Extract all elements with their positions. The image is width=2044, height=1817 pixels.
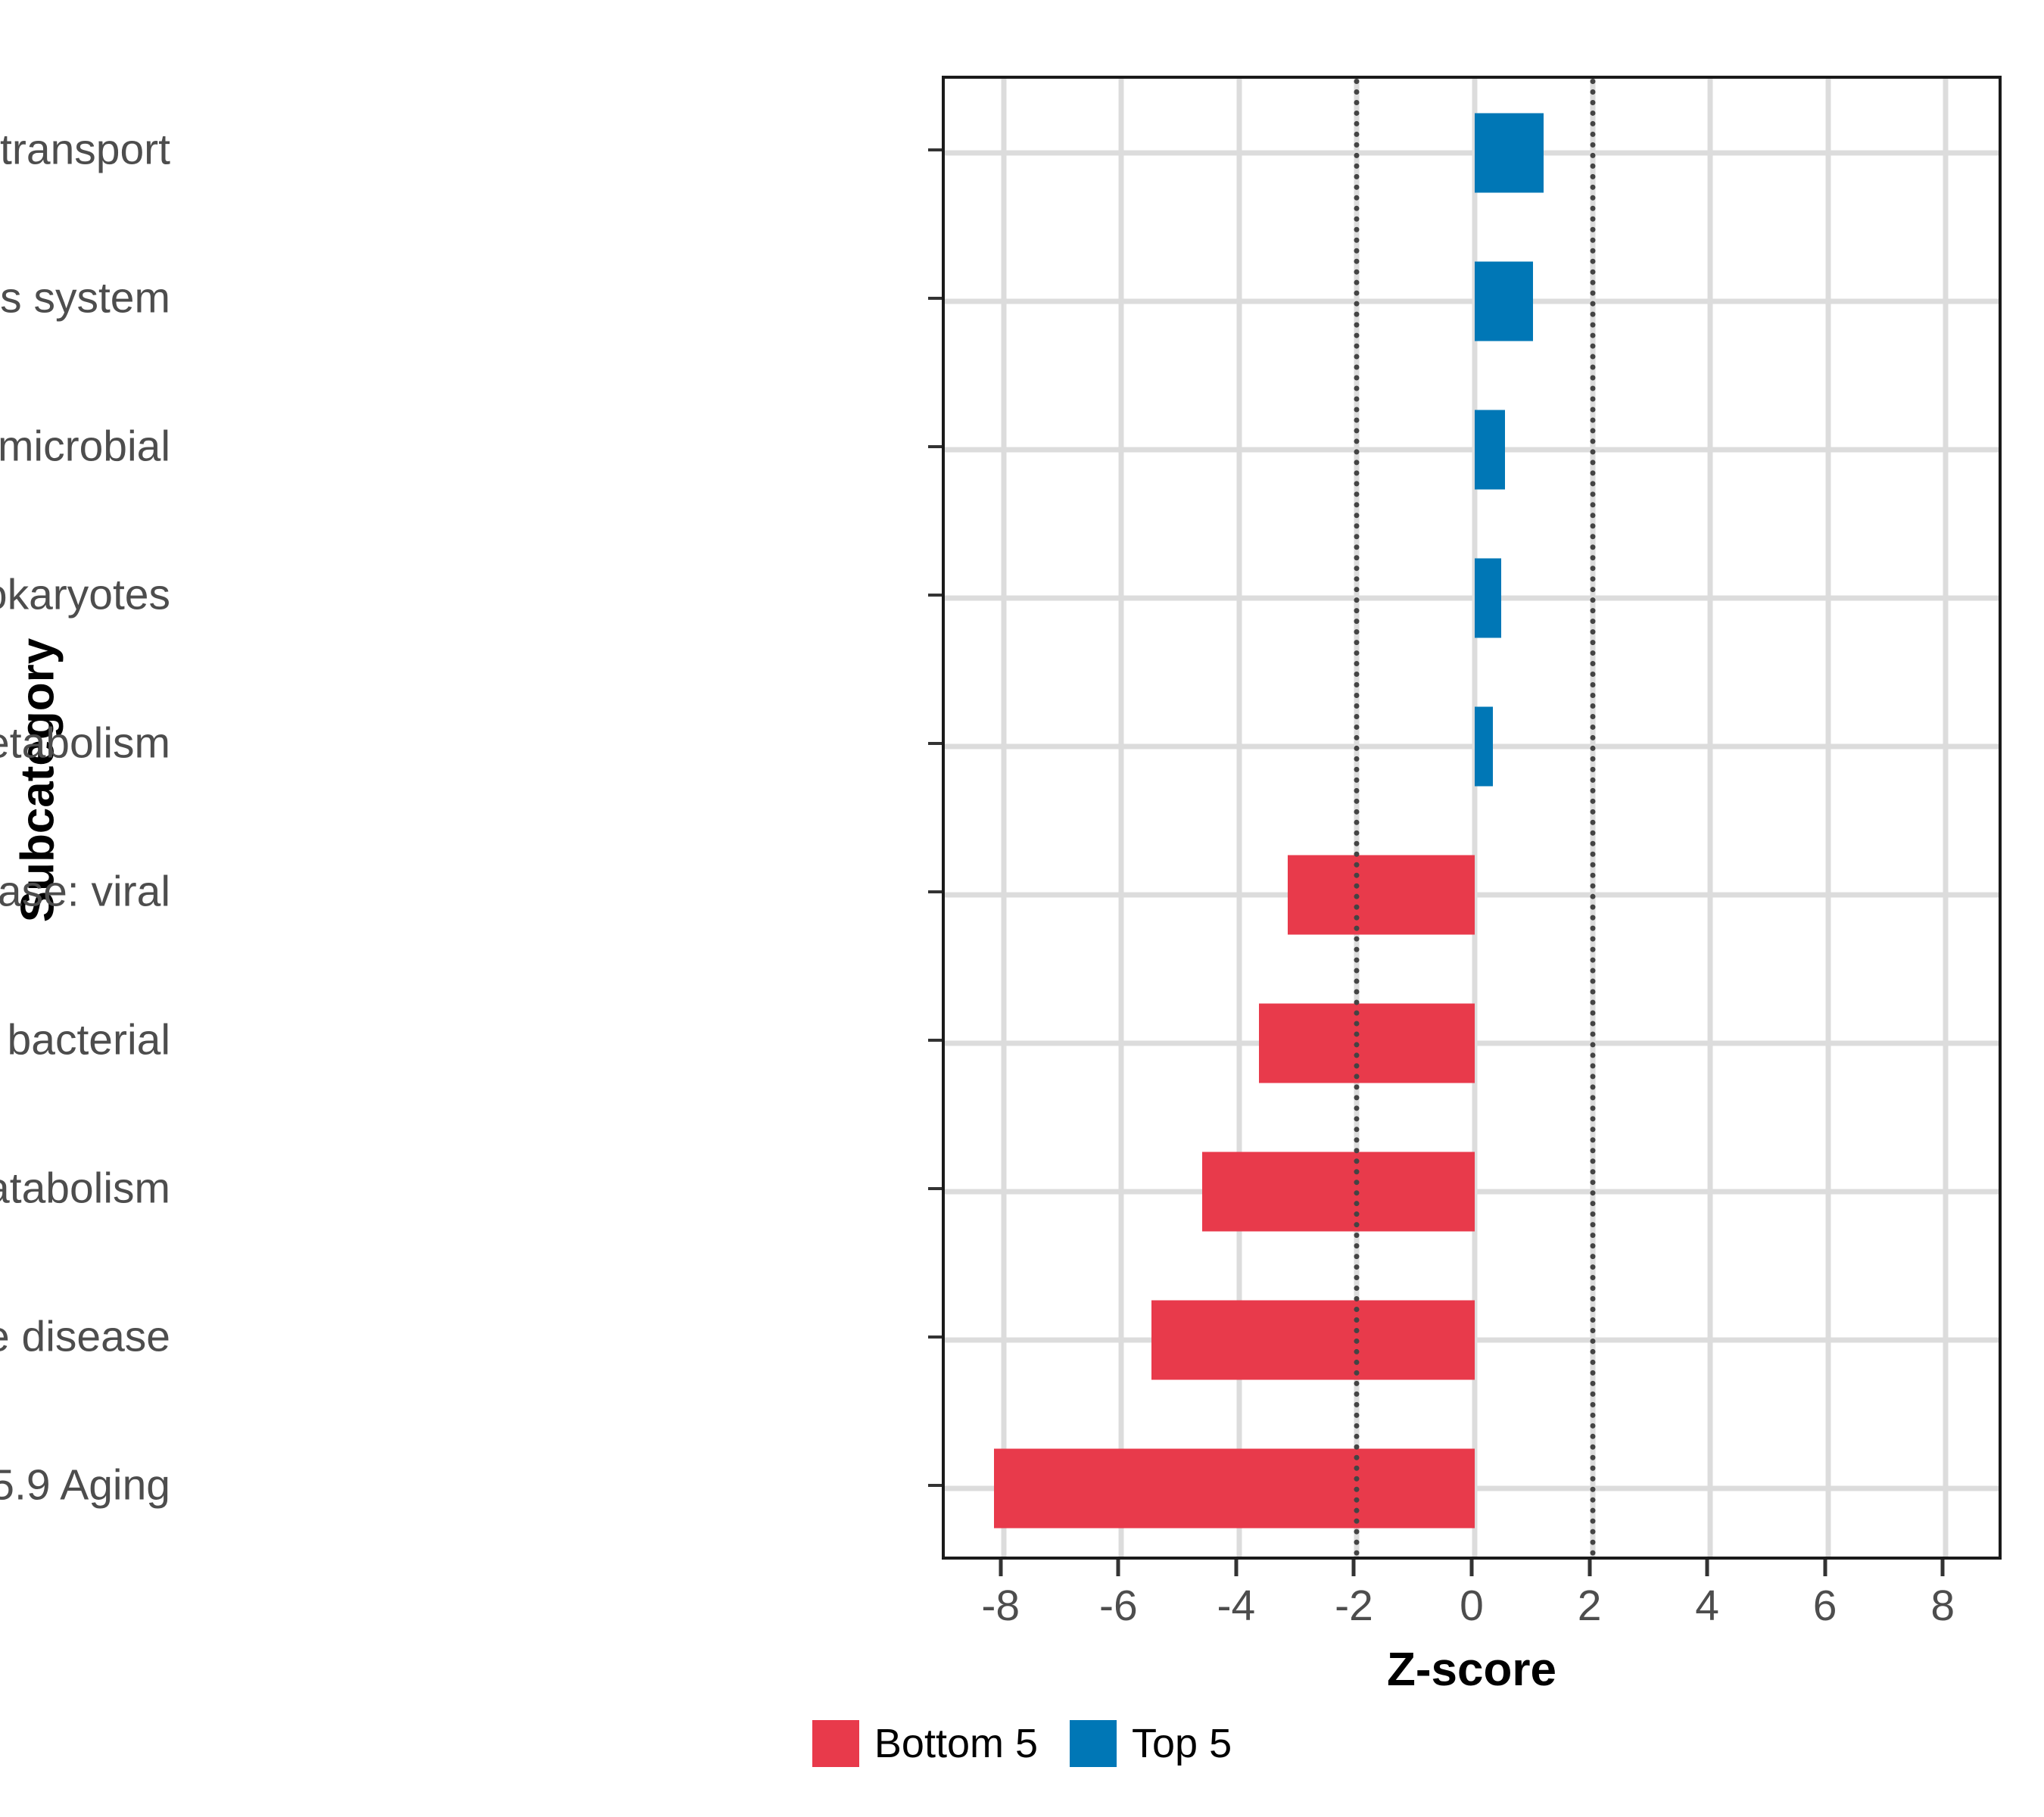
x-axis-tick-label: 8 [1930, 1581, 1955, 1631]
bar[interactable] [1475, 114, 1544, 193]
reference-line [1354, 79, 1360, 1557]
bar[interactable] [1475, 410, 1505, 490]
y-axis-tick-label: 3.1 Membrane transport [0, 129, 170, 172]
x-axis-tick-mark [1941, 1560, 1945, 1576]
bar[interactable] [1202, 1152, 1475, 1232]
y-axis-tick-label: 1.1 Carbohydrate metabolism [0, 722, 170, 765]
y-axis-tick-label: 4.4 Cellular community - prokaryotes [0, 574, 170, 617]
legend-label: Bottom 5 [874, 1720, 1038, 1767]
y-axis-tick-mark [928, 890, 942, 893]
y-axis-tick-mark [928, 1484, 942, 1487]
x-axis-tick-label: -4 [1217, 1581, 1256, 1631]
y-axis-tick-mark [928, 1039, 942, 1042]
gridline-horizontal [945, 299, 1999, 304]
plot-area [942, 76, 2002, 1560]
gridline-horizontal [945, 151, 1999, 156]
chart-legend: Bottom 5Top 5 [0, 1720, 2044, 1767]
y-axis-tick-mark [928, 742, 942, 745]
y-axis-tick-mark [928, 445, 942, 448]
y-axis-tick-mark [928, 594, 942, 597]
y-axis-tick-mark [928, 1187, 942, 1190]
y-axis-tick-label: 4.1 Transport and catabolism [0, 1167, 170, 1211]
bar[interactable] [1475, 262, 1533, 341]
x-axis-tick-mark [1470, 1560, 1474, 1576]
x-axis-tick-label: -8 [981, 1581, 1020, 1631]
y-axis-tick-label: 5.9 Aging [0, 1464, 170, 1507]
x-axis-tick-label: 0 [1460, 1581, 1484, 1631]
legend-item[interactable]: Bottom 5 [812, 1720, 1038, 1767]
reference-line [1590, 79, 1595, 1557]
x-axis-tick-mark [1234, 1560, 1238, 1576]
x-axis-tick-mark [1588, 1560, 1591, 1576]
x-axis-tick-label: 2 [1578, 1581, 1602, 1631]
y-axis-tick-label: 6.4 Infectious disease: bacterial [0, 1019, 170, 1062]
x-axis-tick-label: 4 [1695, 1581, 1719, 1631]
bar[interactable] [1475, 707, 1493, 787]
bar[interactable] [1288, 856, 1475, 935]
legend-color-swatch [812, 1720, 859, 1767]
x-axis-tick-mark [1706, 1560, 1709, 1576]
legend-color-swatch [1070, 1720, 1117, 1767]
chart-figure: Subcategory 3.1 Membrane transport5.6 Ne… [0, 0, 2044, 1817]
bar[interactable] [1151, 1301, 1475, 1380]
y-axis-tick-mark [928, 297, 942, 300]
gridline-horizontal [945, 596, 1999, 601]
gridline-horizontal [945, 447, 1999, 453]
y-axis-tick-mark [928, 148, 942, 151]
y-axis-tick-label: 6.7 Neurodegenerative disease [0, 1316, 170, 1359]
x-axis-tick-label: -6 [1099, 1581, 1138, 1631]
x-axis-tick-mark [1823, 1560, 1827, 1576]
x-axis-tick-mark [999, 1560, 1002, 1576]
y-axis-tick-label: 6.3 Infectious disease: viral [0, 871, 170, 914]
legend-item[interactable]: Top 5 [1070, 1720, 1232, 1767]
x-axis-tick-label: 6 [1813, 1581, 1837, 1631]
legend-label: Top 5 [1132, 1720, 1232, 1767]
x-axis-tick-mark [1117, 1560, 1120, 1576]
y-axis-tick-mark [928, 1335, 942, 1339]
bar[interactable] [1259, 1004, 1475, 1083]
gridline-horizontal [945, 744, 1999, 750]
y-axis-tick-label: 5.6 Nervous system [0, 277, 170, 320]
bar[interactable] [1475, 559, 1501, 638]
y-axis-tick-label: 6.11 Drug resistance: antimicrobial [0, 425, 170, 469]
bar[interactable] [994, 1449, 1475, 1529]
x-axis-title: Z-score [942, 1643, 2002, 1697]
x-axis-tick-label: -2 [1335, 1581, 1373, 1631]
x-axis-tick-mark [1352, 1560, 1356, 1576]
